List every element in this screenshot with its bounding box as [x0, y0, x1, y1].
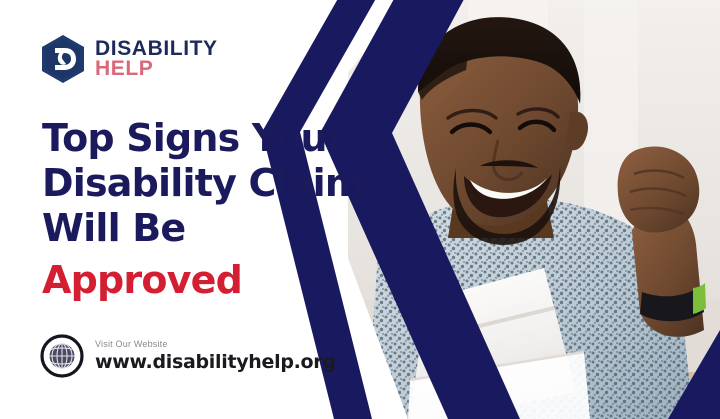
- brand-wordmark: DISABILITY HELP: [95, 39, 218, 79]
- headline-line-1: Top Signs Your: [42, 116, 362, 161]
- hero-photo: [348, 0, 720, 419]
- website-prompt-label: Visit Our Website: [95, 339, 336, 349]
- hero-photo-illustration: [348, 0, 720, 419]
- brand-logo[interactable]: DISABILITY HELP: [40, 34, 218, 84]
- globe-icon: [40, 334, 84, 378]
- thumbnail-canvas: DISABILITY HELP Top Signs Your Disabilit…: [0, 0, 720, 419]
- brand-name-line1: DISABILITY: [95, 39, 218, 59]
- website-callout[interactable]: Visit Our Website www.disabilityhelp.org: [40, 334, 336, 378]
- headline-accent-word: Approved: [42, 258, 362, 303]
- disability-help-hexagon-d-mark: [40, 34, 86, 84]
- headline-line-3: Will Be: [42, 206, 362, 251]
- brand-name-line2: HELP: [95, 59, 218, 79]
- headline-line-2: Disability Claim: [42, 161, 362, 206]
- website-url[interactable]: www.disabilityhelp.org: [95, 351, 336, 373]
- website-text-group: Visit Our Website www.disabilityhelp.org: [95, 339, 336, 373]
- headline-block: Top Signs Your Disability Claim Will Be …: [42, 116, 362, 303]
